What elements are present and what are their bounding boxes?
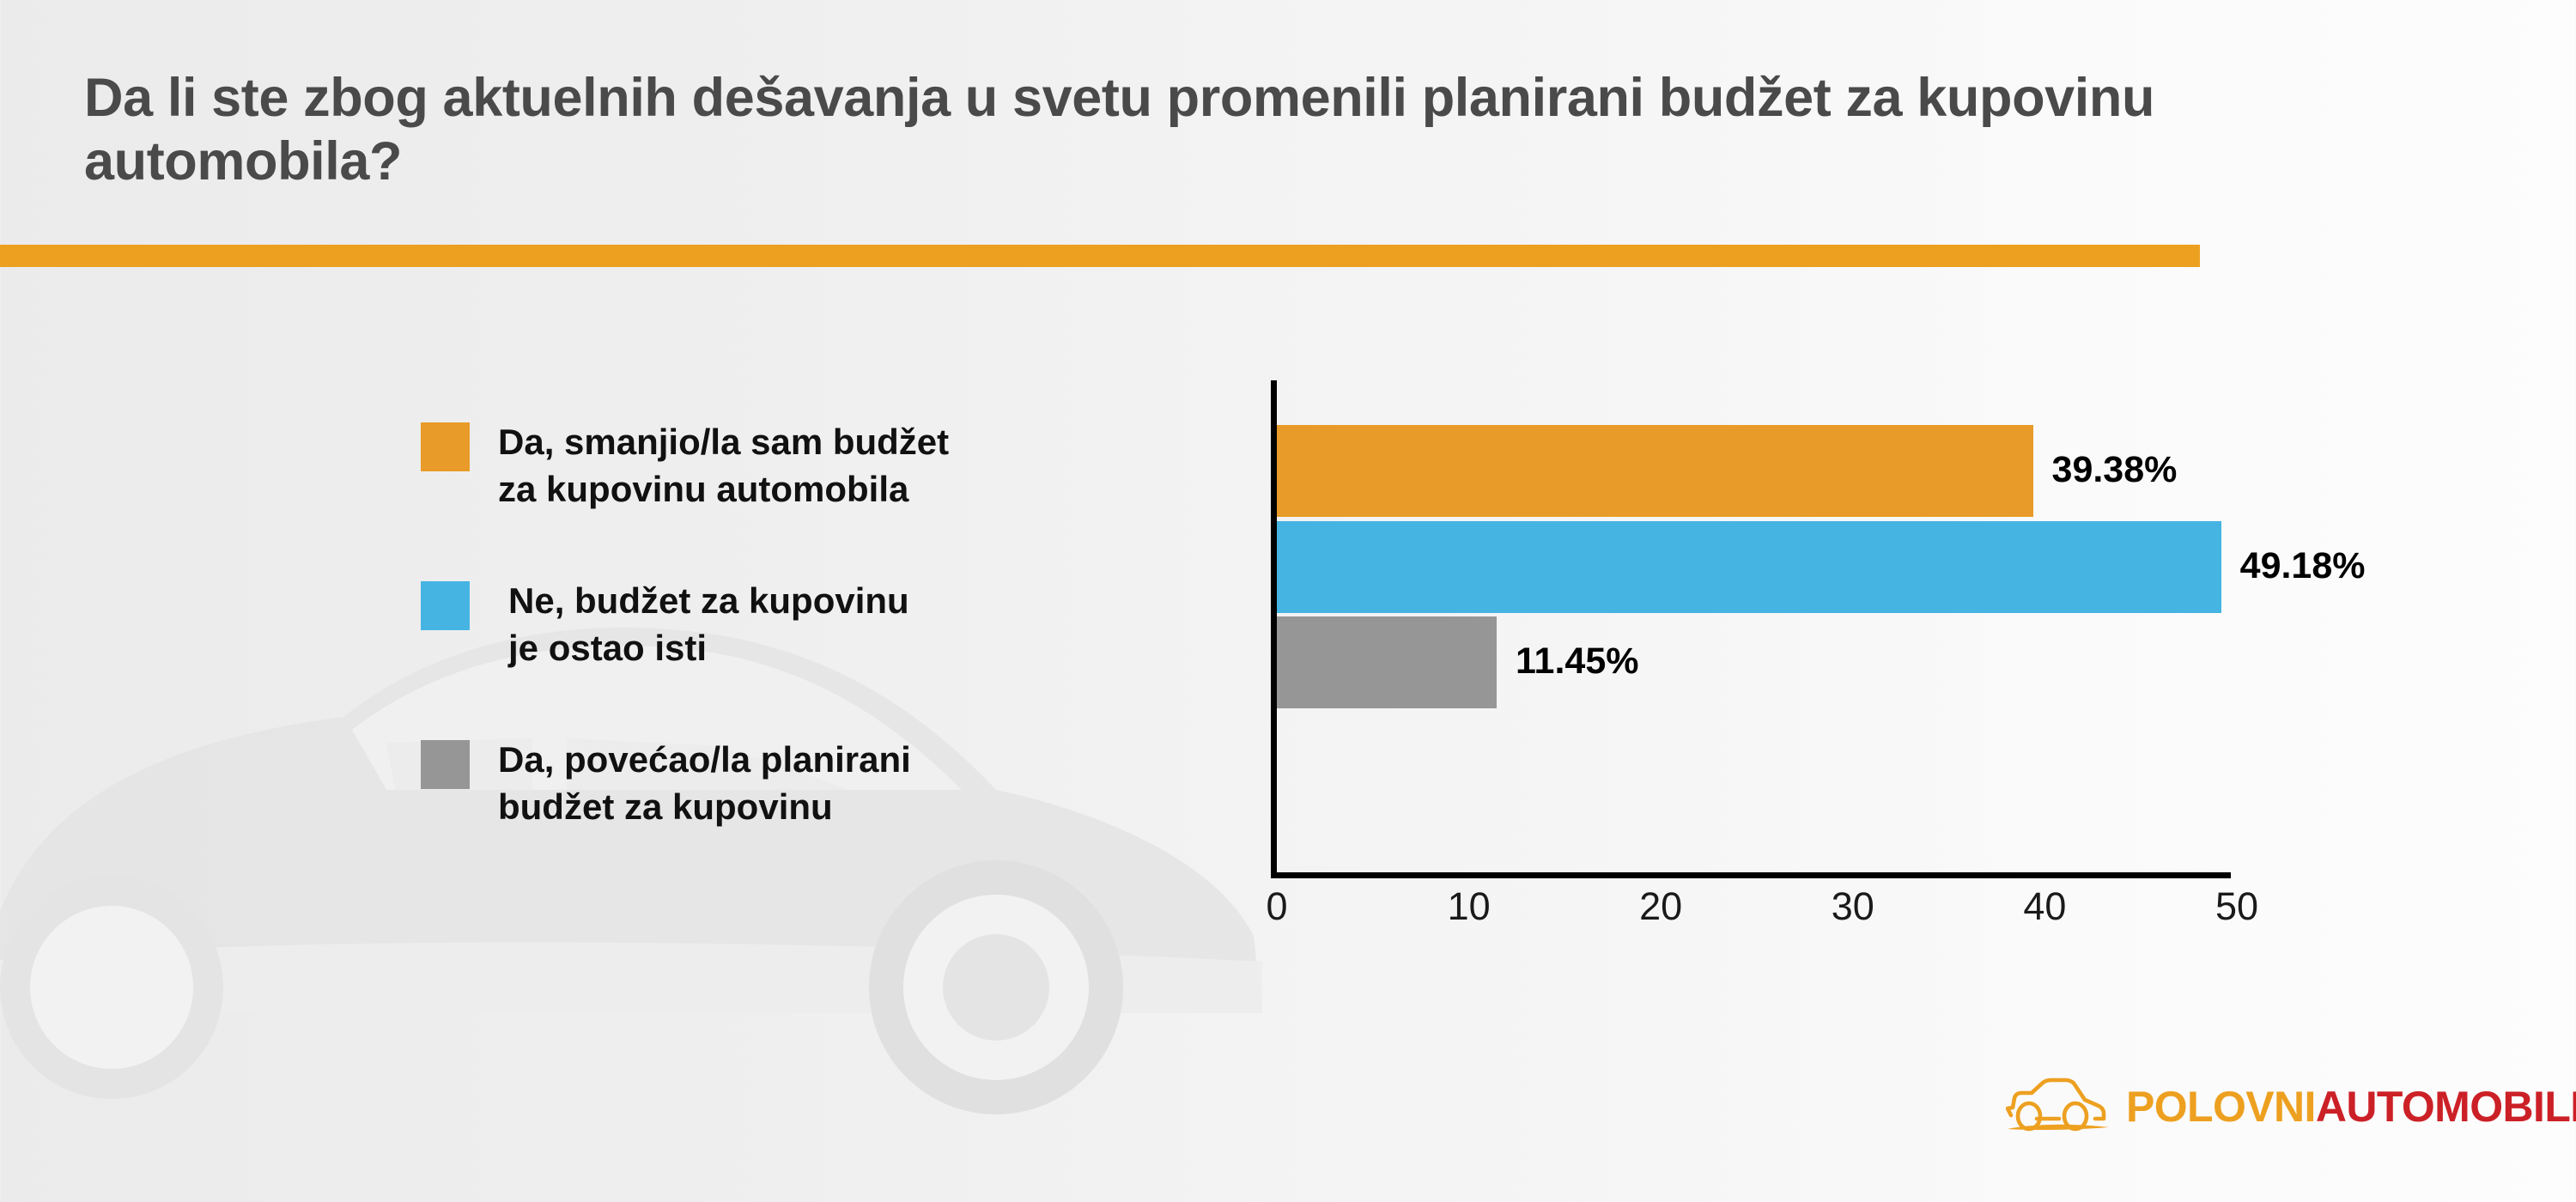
x-tick-label: 0 xyxy=(1266,884,1287,929)
bar-same-budget[interactable] xyxy=(1277,521,2221,613)
x-tick-label: 30 xyxy=(1832,884,1874,929)
legend-swatch-orange xyxy=(421,422,470,471)
logo-text-polovni: POLOVNI xyxy=(2126,1083,2316,1131)
logo-wordmark: POLOVNIAUTOMOBILI xyxy=(2126,1085,2576,1128)
bar-decreased-budget[interactable] xyxy=(1277,425,2033,517)
legend-item-label: Da, smanjio/la sam budžet za kupovinu au… xyxy=(498,419,949,513)
bar-value-label: 11.45% xyxy=(1516,640,1638,683)
bar-value-label: 39.38% xyxy=(2052,449,2178,491)
x-axis-line xyxy=(1271,872,2231,878)
x-tick-label: 10 xyxy=(1448,884,1491,929)
logo-text-automobili: AUTOMOBILI xyxy=(2316,1083,2576,1131)
y-axis-line xyxy=(1271,380,1277,878)
legend-item-increased-budget[interactable]: Da, povećao/la planirani budžet za kupov… xyxy=(421,737,1194,830)
bar-chart-plot: 39.38% 49.18% 11.45% 0 10 20 30 40 50 xyxy=(1271,380,2284,878)
car-outline-icon xyxy=(2006,1078,2114,1136)
legend-item-label: Ne, budžet za kupovinu je ostao isti xyxy=(508,578,909,671)
x-tick-label: 50 xyxy=(2215,884,2258,929)
legend-swatch-blue xyxy=(421,581,470,630)
legend-item-decreased-budget[interactable]: Da, smanjio/la sam budžet za kupovinu au… xyxy=(421,419,1194,513)
title-underline-rule xyxy=(0,245,2200,267)
brand-logo[interactable]: POLOVNIAUTOMOBILI xyxy=(2006,1078,2576,1136)
legend-item-same-budget[interactable]: Ne, budžet za kupovinu je ostao isti xyxy=(421,578,1194,671)
page-title: Da li ste zbog aktuelnih dešavanja u sve… xyxy=(84,67,2248,193)
x-axis-tick-labels: 0 10 20 30 40 50 xyxy=(1271,884,2241,936)
legend-item-label: Da, povećao/la planirani budžet za kupov… xyxy=(498,737,911,830)
bar-value-label: 49.18% xyxy=(2240,545,2366,587)
title-block: Da li ste zbog aktuelnih dešavanja u sve… xyxy=(84,67,2248,193)
legend-swatch-gray xyxy=(421,740,470,789)
x-tick-label: 40 xyxy=(2023,884,2066,929)
x-tick-label: 20 xyxy=(1639,884,1682,929)
chart-legend: Da, smanjio/la sam budžet za kupovinu au… xyxy=(421,419,1194,831)
bar-increased-budget[interactable] xyxy=(1277,616,1497,708)
